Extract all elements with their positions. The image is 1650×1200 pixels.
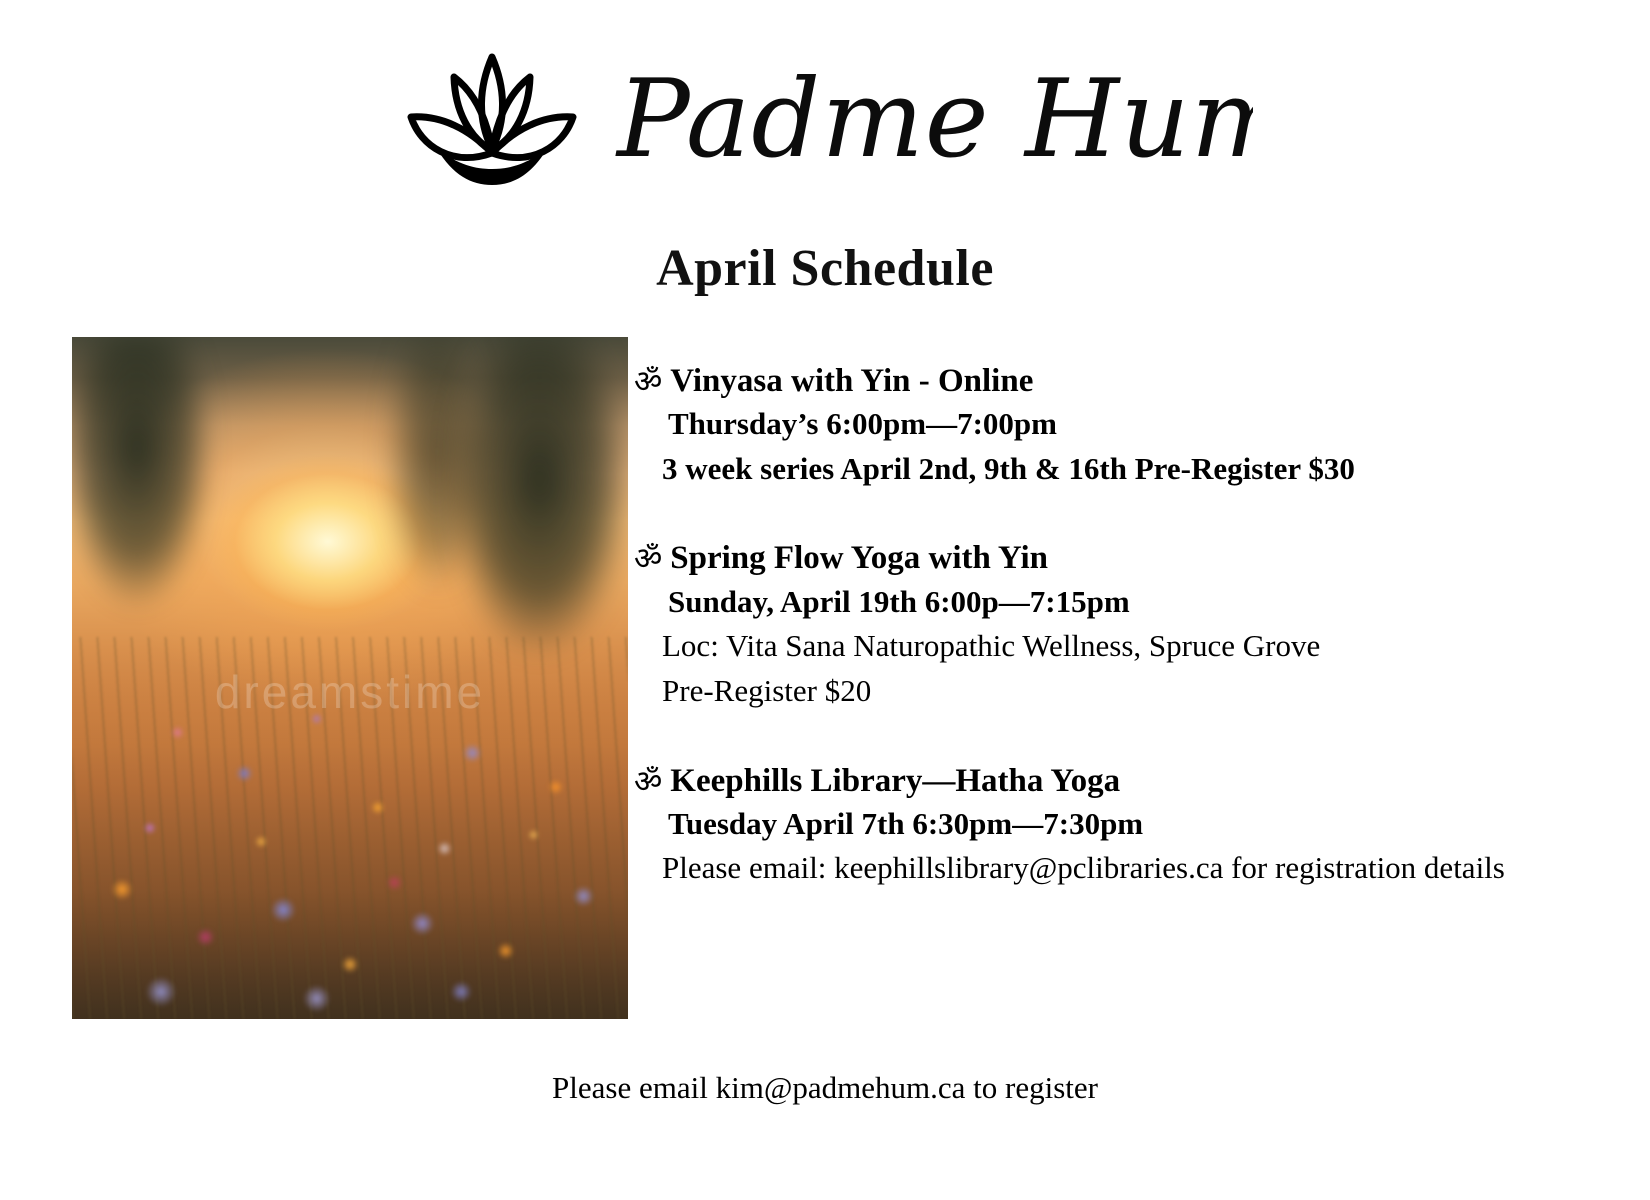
schedule-list: ॐ Vinyasa with Yin - Online Thursday’s 6… — [628, 360, 1588, 891]
schedule-entry-location: Loc: Vita Sana Naturopathic Wellness, Sp… — [662, 624, 1588, 669]
schedule-entry: ॐ Spring Flow Yoga with Yin Sunday, Apri… — [628, 537, 1588, 713]
schedule-entry-detail: 3 week series April 2nd, 9th & 16th Pre-… — [662, 447, 1588, 492]
schedule-entry-title: Keephills Library—Hatha Yoga — [670, 760, 1120, 802]
wildflower-meadow-photo: dreamstime — [72, 337, 628, 1019]
schedule-entry-contact: Please email: keephillslibrary@pclibrari… — [662, 846, 1588, 891]
om-icon: ॐ — [634, 767, 662, 798]
page-title: April Schedule — [0, 243, 1650, 295]
brand-wordmark: Padme Hum Yoga — [613, 38, 1253, 203]
schedule-entry: ॐ Vinyasa with Yin - Online Thursday’s 6… — [628, 360, 1588, 491]
schedule-entry-detail: Sunday, April 19th 6:00p—7:15pm — [668, 580, 1588, 625]
schedule-entry-detail: Tuesday April 7th 6:30pm—7:30pm — [668, 802, 1588, 847]
schedule-entry-title-row: ॐ Spring Flow Yoga with Yin — [634, 537, 1588, 579]
footer-contact: Please email kim@padmehum.ca to register — [0, 1068, 1650, 1108]
schedule-entry-title-row: ॐ Keephills Library—Hatha Yoga — [634, 760, 1588, 802]
om-icon: ॐ — [634, 367, 662, 398]
photo-watermark: dreamstime — [215, 665, 485, 719]
lotus-icon — [397, 41, 587, 201]
schedule-entry-title-row: ॐ Vinyasa with Yin - Online — [634, 360, 1588, 402]
schedule-entry-detail: Thursday’s 6:00pm—7:00pm — [668, 402, 1588, 447]
schedule-entry-title: Spring Flow Yoga with Yin — [670, 537, 1048, 579]
brand-name: Padme Hum Yoga — [615, 57, 1253, 182]
brand-header: Padme Hum Yoga — [0, 38, 1650, 203]
schedule-entry: ॐ Keephills Library—Hatha Yoga Tuesday A… — [628, 760, 1588, 891]
schedule-entry-title: Vinyasa with Yin - Online — [670, 360, 1033, 402]
schedule-entry-price: Pre-Register $20 — [662, 669, 1588, 714]
om-icon: ॐ — [634, 544, 662, 575]
